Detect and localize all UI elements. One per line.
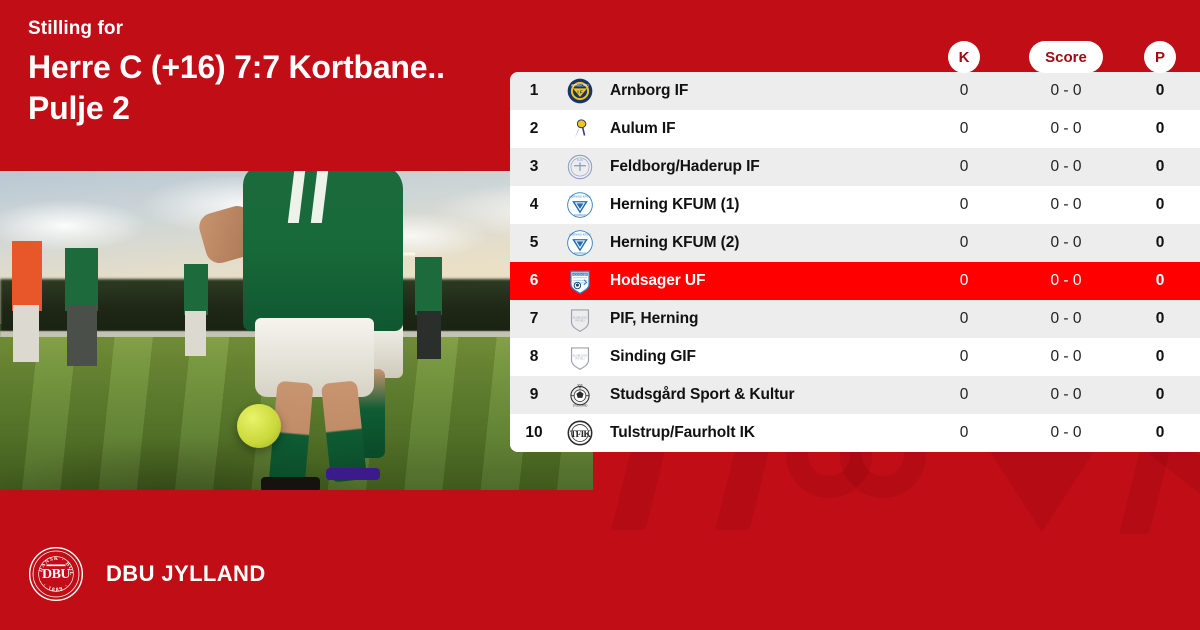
svg-text:HODSAGER: HODSAGER [573, 272, 588, 276]
photo-jersey-number-stroke [288, 171, 305, 223]
column-header-p-wrap: P [1120, 40, 1200, 74]
footer: DANSK · BOLDSPIL · UNION · 1889 · DBU DB… [28, 546, 266, 602]
page-title: Herre C (+16) 7:7 Kortbane.. Pulje 2 [28, 47, 498, 129]
table-row[interactable]: 5 HERNING KFUM FODBOLDHerning KFUM (2)00… [510, 224, 1200, 262]
generic-shield-crest: KLUBLOGO PÅ VEJ [558, 306, 602, 332]
table-row[interactable]: 8 KLUBLOGO PÅ VEJSinding GIF00 - 00 [510, 338, 1200, 376]
row-points: 0 [1120, 196, 1200, 214]
organisation-name: DBU JYLLAND [106, 561, 266, 587]
page-title-line-1: Herre C (+16) 7:7 Kortbane.. [28, 47, 498, 88]
row-team-name[interactable]: Tulstrup/Faurholt IK [602, 424, 916, 442]
row-position: 1 [510, 82, 558, 100]
row-points: 0 [1120, 348, 1200, 366]
row-matches-played: 0 [916, 386, 1012, 404]
column-header-p[interactable]: P [1144, 41, 1176, 73]
arnborg-if-crest: ARNBORG I F [558, 78, 602, 104]
row-points: 0 [1120, 82, 1200, 100]
hodsager-uf-crest: HODSAGER [558, 268, 602, 294]
row-matches-played: 0 [916, 82, 1012, 100]
row-points: 0 [1120, 424, 1200, 442]
table-row[interactable]: 2 Aulum IF00 - 00 [510, 110, 1200, 148]
row-matches-played: 0 [916, 272, 1012, 290]
photo-player-distant [12, 241, 42, 311]
row-team-name[interactable]: Hodsager UF [602, 272, 916, 290]
photo-player-distant [415, 257, 442, 314]
row-position: 6 [510, 272, 558, 290]
svg-text:TFIK: TFIK [570, 429, 591, 440]
svg-text:HERNING KFUM: HERNING KFUM [570, 233, 592, 237]
row-matches-played: 0 [916, 120, 1012, 138]
svg-text:I F: I F [577, 90, 583, 95]
row-score: 0 - 0 [1012, 196, 1120, 214]
row-team-name[interactable]: Sinding GIF [602, 348, 916, 366]
photo-player-distant [185, 311, 206, 356]
table-row[interactable]: 10 TFIKTulstrup/Faurholt IK00 - 00 [510, 414, 1200, 452]
photo-player-distant [417, 311, 441, 359]
photo-player-boot [261, 477, 320, 490]
svg-text:HERNING KFUM: HERNING KFUM [570, 195, 592, 199]
photo-player-distant [13, 305, 39, 362]
dbu-emblem-icon: DANSK · BOLDSPIL · UNION · 1889 · DBU [28, 546, 84, 602]
row-team-name[interactable]: Herning KFUM (1) [602, 196, 916, 214]
table-row[interactable]: 4 HERNING KFUM FODBOLDHerning KFUM (1)00… [510, 186, 1200, 224]
studsgaard-crest: SSK STUDSGÅRD [558, 382, 602, 408]
row-matches-played: 0 [916, 234, 1012, 252]
football-match-photo [0, 171, 593, 490]
svg-text:ARNBORG: ARNBORG [571, 83, 589, 87]
svg-text:· 1889 ·: · 1889 · [42, 583, 71, 594]
herning-kfum-crest: HERNING KFUM FODBOLD [558, 192, 602, 218]
column-header-k[interactable]: K [948, 41, 980, 73]
row-score: 0 - 0 [1012, 234, 1120, 252]
row-score: 0 - 0 [1012, 348, 1120, 366]
row-position: 5 [510, 234, 558, 252]
row-score: 0 - 0 [1012, 424, 1120, 442]
row-position: 9 [510, 386, 558, 404]
svg-text:FODBOLD: FODBOLD [574, 251, 587, 255]
column-header-score[interactable]: Score [1029, 41, 1103, 73]
row-matches-played: 0 [916, 310, 1012, 328]
photo-player-distant [65, 248, 98, 312]
row-position: 7 [510, 310, 558, 328]
row-position: 3 [510, 158, 558, 176]
row-position: 8 [510, 348, 558, 366]
row-position: 4 [510, 196, 558, 214]
photo-player-green-jersey [243, 171, 403, 331]
table-column-headers: K Score P [510, 40, 1200, 74]
column-header-score-wrap: Score [1012, 40, 1120, 74]
row-team-name[interactable]: Herning KFUM (2) [602, 234, 916, 252]
svg-text:KLUBLOGO: KLUBLOGO [573, 315, 587, 319]
row-points: 0 [1120, 120, 1200, 138]
svg-text:FHIF: FHIF [577, 158, 584, 162]
row-points: 0 [1120, 386, 1200, 404]
row-team-name[interactable]: Aulum IF [602, 120, 916, 138]
svg-text:STUDSGÅRD: STUDSGÅRD [573, 405, 588, 408]
header-kicker: Stilling for [28, 18, 498, 41]
table-row[interactable]: 1 ARNBORG I FArnborg IF00 - 00 [510, 72, 1200, 110]
feldborg-haderup-crest: FHIF [558, 154, 602, 180]
row-points: 0 [1120, 272, 1200, 290]
photo-jersey-number-stroke [310, 171, 327, 223]
svg-text:KLUBLOGO: KLUBLOGO [573, 353, 587, 357]
photo-player-distant [67, 305, 97, 366]
row-team-name[interactable]: Studsgård Sport & Kultur [602, 386, 916, 404]
photo-player-boot [326, 468, 379, 481]
row-team-name[interactable]: Feldborg/Haderup IF [602, 158, 916, 176]
row-score: 0 - 0 [1012, 310, 1120, 328]
herning-kfum-crest: HERNING KFUM FODBOLD [558, 230, 602, 256]
row-matches-played: 0 [916, 158, 1012, 176]
row-position: 2 [510, 120, 558, 138]
row-score: 0 - 0 [1012, 158, 1120, 176]
row-score: 0 - 0 [1012, 82, 1120, 100]
photo-football [237, 404, 281, 448]
aulum-if-crest [558, 116, 602, 142]
row-matches-played: 0 [916, 196, 1012, 214]
row-points: 0 [1120, 158, 1200, 176]
column-header-k-wrap: K [916, 40, 1012, 74]
row-score: 0 - 0 [1012, 272, 1120, 290]
standings-table: 1 ARNBORG I FArnborg IF00 - 002 Aulum IF… [510, 72, 1200, 452]
tulstrup-faurholt-crest: TFIK [558, 420, 602, 446]
row-matches-played: 0 [916, 424, 1012, 442]
svg-text:DBU: DBU [42, 567, 70, 582]
table-row[interactable]: 9 SSK STUDSGÅRDStudsgård Sport & Kultur0… [510, 376, 1200, 414]
page-header: Stilling for Herre C (+16) 7:7 Kortbane.… [28, 18, 498, 129]
header-spacer [510, 40, 916, 74]
photo-player-distant [184, 264, 208, 315]
table-row[interactable]: 7 KLUBLOGO PÅ VEJPIF, Herning00 - 00 [510, 300, 1200, 338]
table-row[interactable]: 3 FHIFFeldborg/Haderup IF00 - 00 [510, 148, 1200, 186]
row-matches-played: 0 [916, 348, 1012, 366]
row-position: 10 [510, 424, 558, 442]
svg-text:SSK: SSK [577, 383, 582, 387]
row-score: 0 - 0 [1012, 120, 1120, 138]
table-row[interactable]: 6 HODSAGER Hodsager UF00 - 00 [510, 262, 1200, 300]
row-points: 0 [1120, 310, 1200, 328]
row-score: 0 - 0 [1012, 386, 1120, 404]
svg-text:FODBOLD: FODBOLD [574, 213, 587, 217]
generic-shield-crest: KLUBLOGO PÅ VEJ [558, 344, 602, 370]
row-team-name[interactable]: PIF, Herning [602, 310, 916, 328]
row-points: 0 [1120, 234, 1200, 252]
row-team-name[interactable]: Arnborg IF [602, 82, 916, 100]
page-title-line-2: Pulje 2 [28, 88, 498, 129]
